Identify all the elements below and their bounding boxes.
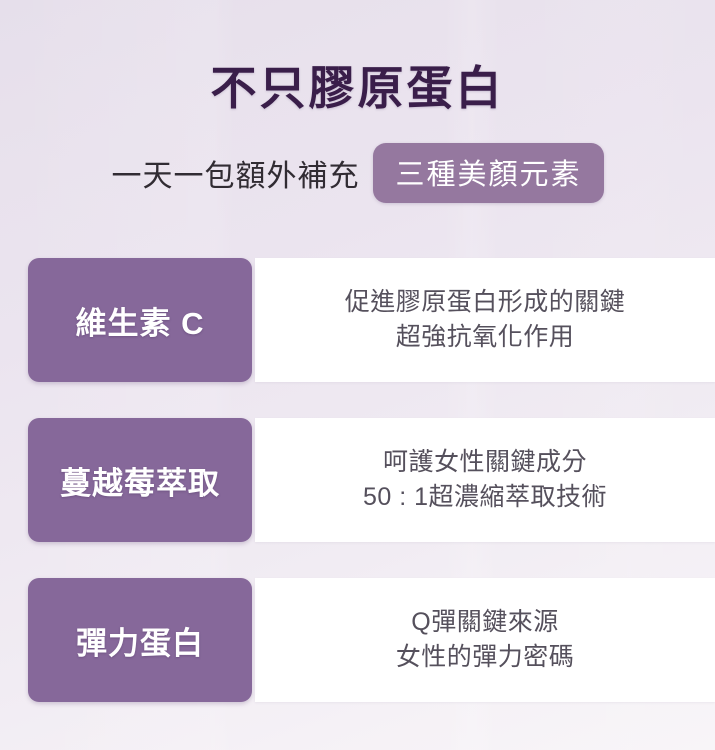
subtitle-text: 一天一包額外補充 bbox=[111, 151, 359, 195]
ingredient-label: 蔓越莓萃取 bbox=[60, 458, 220, 503]
ingredient-label-box: 彈力蛋白 bbox=[28, 578, 252, 702]
description-line-2: 50 : 1超濃縮萃取技術 bbox=[363, 480, 607, 516]
description-line-2: 超強抗氧化作用 bbox=[345, 320, 626, 356]
description-line-1: 促進膠原蛋白形成的關鍵 bbox=[345, 285, 626, 321]
ingredient-label: 彈力蛋白 bbox=[76, 618, 204, 663]
ingredient-label-box: 蔓越莓萃取 bbox=[28, 418, 252, 542]
list-item: 促進膠原蛋白形成的關鍵 超強抗氧化作用 維生素 C bbox=[0, 258, 715, 382]
page-title: 不只膠原蛋白 bbox=[0, 52, 715, 118]
ingredient-description: Q彈關鍵來源 女性的彈力密碼 bbox=[382, 605, 589, 676]
description-line-1: 呵護女性關鍵成分 bbox=[363, 445, 607, 481]
ingredient-description-panel: 呵護女性關鍵成分 50 : 1超濃縮萃取技術 bbox=[255, 418, 715, 542]
poster-content: 不只膠原蛋白 一天一包額外補充 三種美顏元素 促進膠原蛋白形成的關鍵 超強抗氧化… bbox=[0, 0, 715, 750]
ingredient-description-panel: 促進膠原蛋白形成的關鍵 超強抗氧化作用 bbox=[255, 258, 715, 382]
description-line-1: Q彈關鍵來源 bbox=[396, 605, 575, 641]
ingredient-description: 呵護女性關鍵成分 50 : 1超濃縮萃取技術 bbox=[349, 445, 621, 516]
list-item: 呵護女性關鍵成分 50 : 1超濃縮萃取技術 蔓越莓萃取 bbox=[0, 418, 715, 542]
status-badge: 三種美顏元素 bbox=[373, 143, 603, 203]
ingredient-label-box: 維生素 C bbox=[28, 258, 252, 382]
list-item: Q彈關鍵來源 女性的彈力密碼 彈力蛋白 bbox=[0, 578, 715, 702]
ingredient-description-panel: Q彈關鍵來源 女性的彈力密碼 bbox=[255, 578, 715, 702]
ingredient-description: 促進膠原蛋白形成的關鍵 超強抗氧化作用 bbox=[331, 285, 640, 356]
subtitle-row: 一天一包額外補充 三種美顏元素 bbox=[0, 145, 715, 201]
description-line-2: 女性的彈力密碼 bbox=[396, 640, 575, 676]
ingredient-label: 維生素 C bbox=[76, 298, 205, 343]
promo-poster: 不只膠原蛋白 一天一包額外補充 三種美顏元素 促進膠原蛋白形成的關鍵 超強抗氧化… bbox=[0, 0, 715, 750]
ingredient-list: 促進膠原蛋白形成的關鍵 超強抗氧化作用 維生素 C 呵護女性關鍵成分 50 : … bbox=[0, 258, 715, 702]
